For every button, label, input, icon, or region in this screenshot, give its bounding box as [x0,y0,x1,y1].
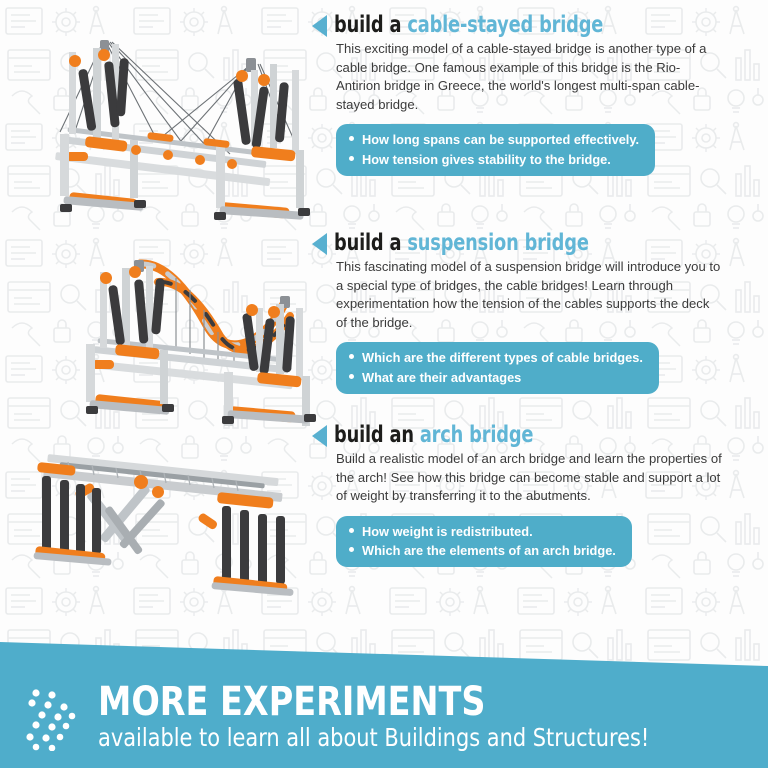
heading-accent: cable-stayed bridge [407,12,603,38]
list-item: Which are the elements of an arch bridge… [349,541,616,560]
bullet-dot-icon [349,374,354,379]
list-item-label: How tension gives stability to the bridg… [362,150,611,169]
list-item: Which are the different types of cable b… [349,348,643,367]
list-item: What are their advantages [349,368,643,387]
list-item-label: How weight is redistributed. [362,522,533,541]
list-item: How long spans can be supported effectiv… [349,130,639,149]
page-root: build a cable-stayed bridge This excitin… [0,0,768,768]
list-item-label: Which are the different types of cable b… [362,348,643,367]
heading-prefix: build an [334,422,414,448]
learning-points-callout: How long spans can be supported effectiv… [336,124,655,175]
list-item: How tension gives stability to the bridg… [349,150,639,169]
section-suspension-bridge: build a suspension bridge This fascinati… [0,232,768,428]
bullet-dot-icon [349,156,354,161]
list-item: How weight is redistributed. [349,522,616,541]
learning-points-callout: How weight is redistributed. Which are t… [336,516,632,567]
learning-points-list: How weight is redistributed. Which are t… [349,522,616,560]
triangle-bullet-icon [312,15,327,37]
learning-points-list: Which are the different types of cable b… [349,348,643,386]
triangle-bullet-icon [312,425,327,447]
learning-points-list: How long spans can be supported effectiv… [349,130,639,168]
heading-accent: suspension bridge [407,230,588,256]
cable-stayed-bridge-model [8,14,320,234]
bullet-dot-icon [349,136,354,141]
section-arch-bridge: build an arch bridge Build a realistic m… [0,424,768,616]
triangle-bullet-icon [312,233,327,255]
list-item-label: What are their advantages [362,368,521,387]
suspension-bridge-model [8,232,320,428]
cable-stayed-text-block: build a cable-stayed bridge This excitin… [312,14,768,176]
section-body: This exciting model of a cable-stayed br… [312,40,722,114]
arch-bridge-model [8,424,320,616]
arch-text-block: build an arch bridge Build a realistic m… [312,424,768,567]
heading-accent: arch bridge [420,422,533,448]
section-cable-stayed-bridge: build a cable-stayed bridge This excitin… [0,14,768,234]
section-heading: build an arch bridge [312,424,768,447]
list-item-label: How long spans can be supported effectiv… [362,130,639,149]
bullet-dot-icon [349,528,354,533]
heading-prefix: build a [334,230,401,256]
bullet-dot-icon [349,547,354,552]
suspension-text-block: build a suspension bridge This fascinati… [312,232,768,394]
section-heading: build a suspension bridge [312,232,768,255]
list-item-label: Which are the elements of an arch bridge… [362,541,616,560]
banner-title: MORE EXPERIMENTS [98,682,649,722]
bullet-dot-icon [349,354,354,359]
section-body: This fascinating model of a suspension b… [312,258,722,332]
heading-prefix: build a [334,12,401,38]
section-heading: build a cable-stayed bridge [312,14,768,37]
learning-points-callout: Which are the different types of cable b… [336,342,659,393]
dotted-chevron-icon [22,685,84,751]
banner-subtitle: available to learn all about Buildings a… [98,724,649,752]
more-experiments-banner: MORE EXPERIMENTS available to learn all … [0,620,768,768]
section-body: Build a realistic model of an arch bridg… [312,450,722,506]
